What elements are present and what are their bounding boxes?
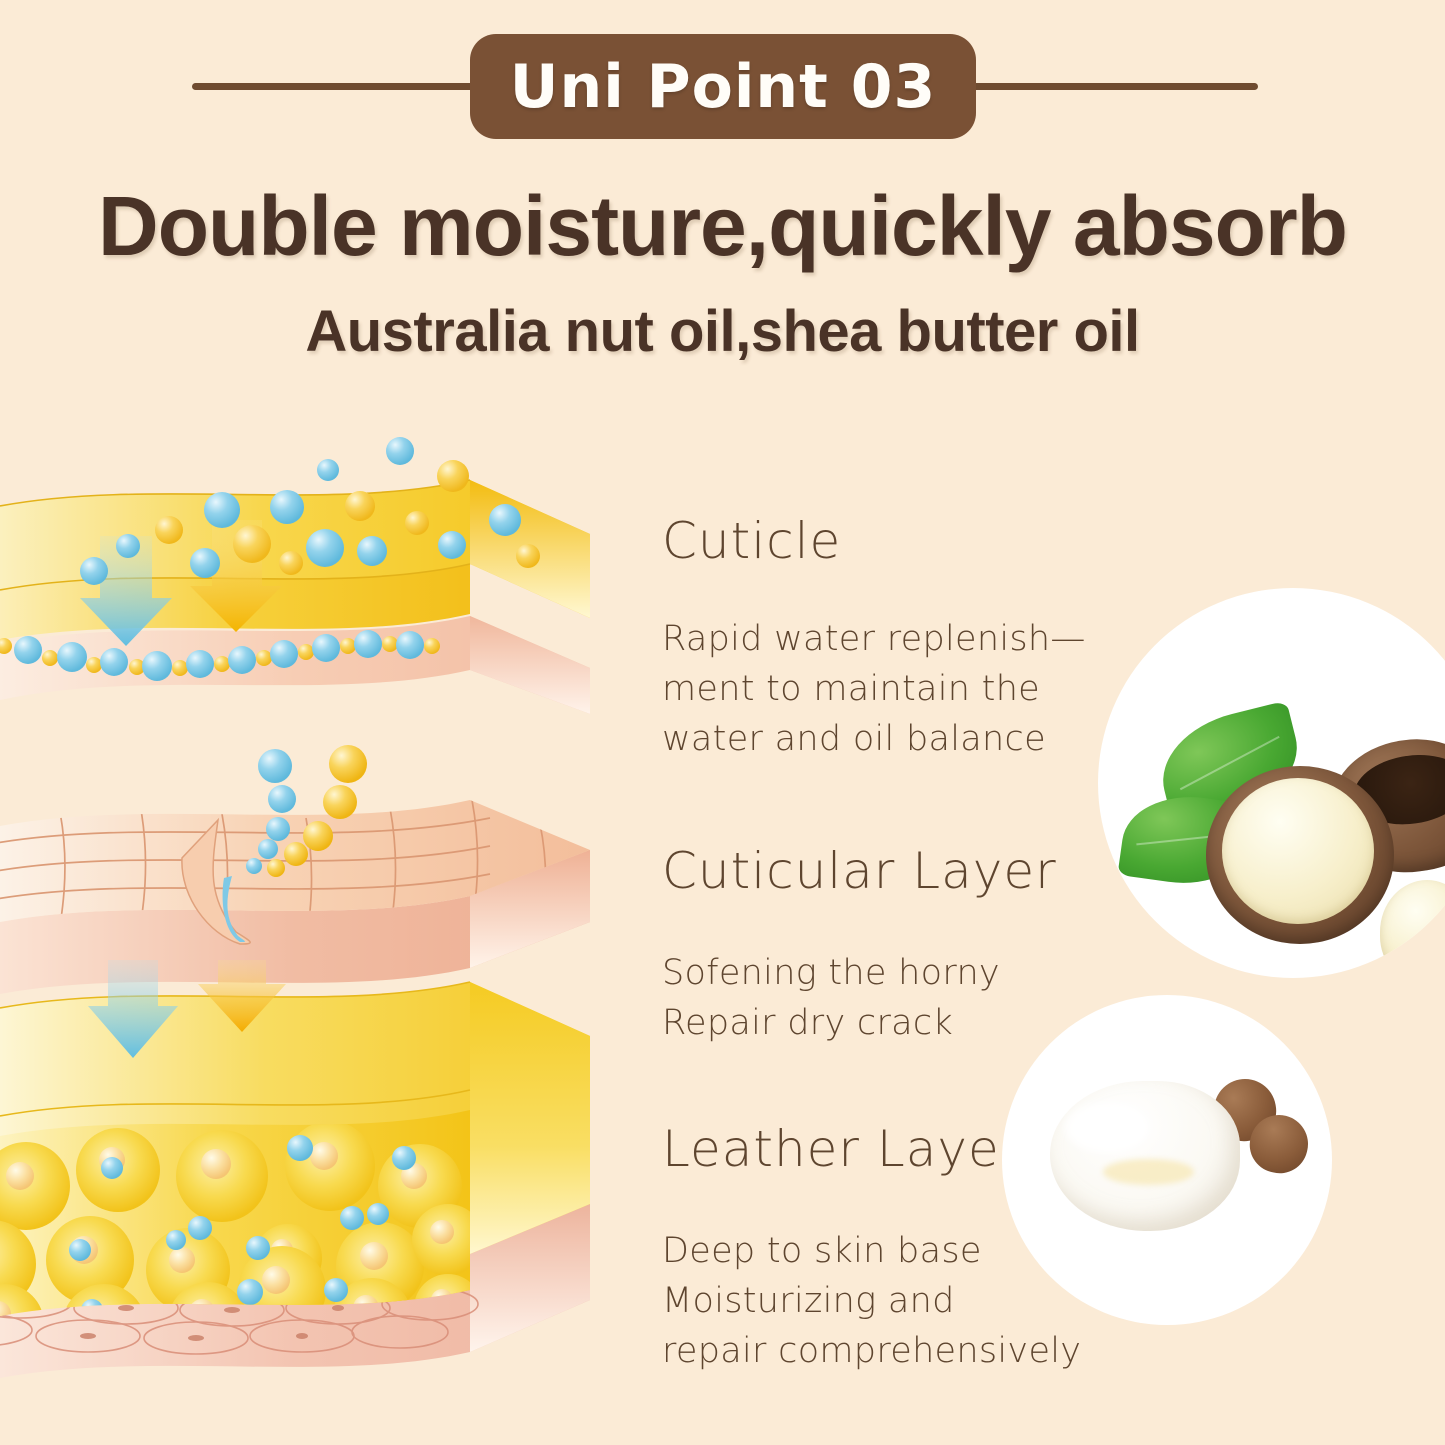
nut-kernel bbox=[1222, 778, 1374, 924]
badge-label: Uni Point 03 bbox=[510, 52, 936, 122]
macadamia-nut-photo bbox=[1098, 588, 1445, 978]
shea-butter-mass bbox=[1050, 1081, 1240, 1231]
section-heading-cuticular-layer: Cuticular Layer bbox=[662, 842, 1057, 900]
section-body-cuticle: Rapid water replenish— ment to maintain … bbox=[662, 614, 1086, 764]
section-cuticular-layer: Cuticular Layer Sofening the horny Repai… bbox=[662, 842, 1057, 1048]
cuticle-diagram bbox=[0, 418, 620, 718]
shea-butter-photo bbox=[1002, 995, 1332, 1325]
page-title: Double moisture,quickly absorb bbox=[0, 178, 1445, 275]
infographic-page: Uni Point 03 Double moisture,quickly abs… bbox=[0, 0, 1445, 1445]
header-rule-right bbox=[960, 83, 1258, 90]
page-subtitle: Australia nut oil,shea butter oil bbox=[0, 298, 1445, 365]
section-body-cuticular-layer: Sofening the horny Repair dry crack bbox=[662, 948, 1057, 1048]
uni-point-badge: Uni Point 03 bbox=[470, 34, 976, 139]
section-cuticle: Cuticle Rapid water replenish— ment to m… bbox=[662, 512, 1086, 764]
header-rule-left bbox=[192, 83, 492, 90]
leather-layer-diagram bbox=[0, 960, 620, 1445]
nut-kernel-small bbox=[1380, 880, 1445, 978]
section-heading-cuticle: Cuticle bbox=[662, 512, 1086, 570]
